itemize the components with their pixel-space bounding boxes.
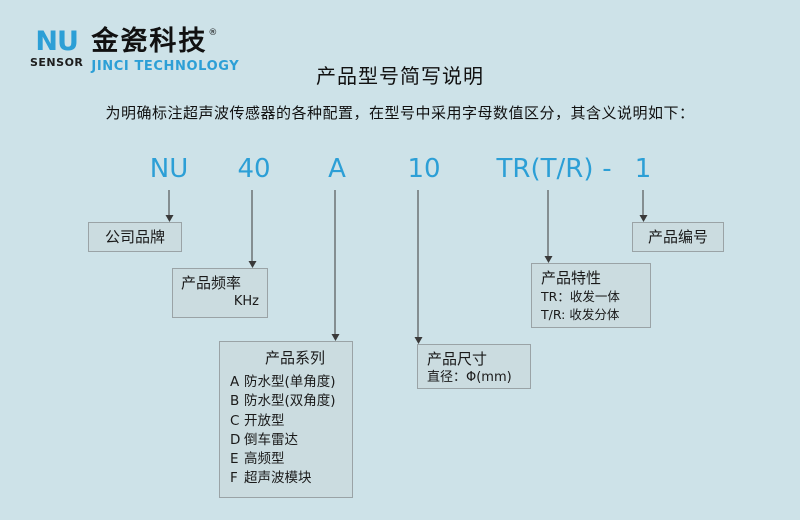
arrow-to-serial-icon — [639, 190, 648, 222]
series-label: 高频型 — [244, 451, 285, 467]
list-item: D倒车雷达 — [230, 431, 342, 450]
page-title: 产品型号简写说明 — [0, 60, 800, 89]
model-part-brand: NU — [150, 156, 188, 182]
arrow-to-size-icon — [414, 190, 423, 344]
model-number-row: NU 40 A 10 TR(T/R) - 1 — [0, 156, 800, 190]
list-item: E高频型 — [230, 450, 342, 469]
box-company-brand: 公司品牌 — [88, 222, 182, 252]
series-label: 防水型(单角度) — [244, 374, 336, 390]
box-product-serial: 产品编号 — [632, 222, 724, 252]
box-product-serial-title: 产品编号 — [648, 227, 708, 247]
series-code: E — [230, 450, 244, 469]
box-product-series-title: 产品系列 — [230, 348, 342, 368]
box-product-feature-line-tr: TR：收发一体 — [541, 288, 641, 306]
series-label: 超声波模块 — [244, 470, 312, 486]
box-product-feature-title: 产品特性 — [541, 268, 641, 288]
model-number-explanation-diagram: NU SENSOR 金瓷科技 ® JINCI TECHNOLOGY 产品型号简写… — [0, 0, 800, 520]
model-part-series: A — [328, 156, 346, 182]
product-series-list: A防水型(单角度) B防水型(双角度) C开放型 D倒车雷达 E高频型 F超声波… — [230, 373, 342, 488]
series-code: C — [230, 412, 244, 431]
box-product-feature-line-t-r: T/R: 收发分体 — [541, 306, 641, 324]
logo-chinese-wrap: 金瓷科技 ® — [91, 28, 239, 55]
box-company-brand-title: 公司品牌 — [105, 227, 165, 247]
series-code: A — [230, 373, 244, 392]
model-part-feature: TR(T/R) — [497, 156, 594, 182]
arrow-to-feature-icon — [544, 190, 553, 263]
series-label: 开放型 — [244, 413, 285, 429]
list-item: A防水型(单角度) — [230, 373, 342, 392]
model-part-size: 10 — [407, 156, 440, 182]
box-product-size: 产品尺寸 直径：Φ(mm) — [417, 344, 531, 389]
model-part-dash: - — [602, 156, 611, 182]
box-product-feature: 产品特性 TR：收发一体 T/R: 收发分体 — [531, 263, 651, 328]
box-product-size-title: 产品尺寸 — [427, 349, 521, 369]
logo-company-name-cn: 金瓷科技 — [91, 28, 207, 55]
box-product-size-detail: 直径：Φ(mm) — [427, 369, 521, 387]
series-label: 防水型(双角度) — [244, 393, 336, 409]
box-product-series: 产品系列 A防水型(单角度) B防水型(双角度) C开放型 D倒车雷达 E高频型… — [219, 341, 353, 498]
page-subtitle: 为明确标注超声波传感器的各种配置，在型号中采用字母数值区分，其含义说明如下： — [0, 102, 800, 123]
box-product-frequency-title: 产品频率 — [181, 273, 259, 293]
series-code: F — [230, 469, 244, 488]
arrow-to-brand-icon — [165, 190, 174, 222]
registered-trademark-icon: ® — [208, 29, 217, 38]
model-part-frequency: 40 — [237, 156, 270, 182]
list-item: C开放型 — [230, 412, 342, 431]
list-item: F超声波模块 — [230, 469, 342, 488]
series-code: B — [230, 392, 244, 411]
model-part-serial: 1 — [635, 156, 652, 182]
series-code: D — [230, 431, 244, 450]
logo-nu-text: NU — [35, 28, 78, 55]
arrow-to-frequency-icon — [248, 190, 257, 268]
arrow-to-series-icon — [331, 190, 340, 341]
series-label: 倒车雷达 — [244, 432, 298, 448]
box-product-frequency-unit: KHz — [181, 293, 259, 311]
list-item: B防水型(双角度) — [230, 392, 342, 411]
box-product-frequency: 产品频率 KHz — [172, 268, 268, 318]
